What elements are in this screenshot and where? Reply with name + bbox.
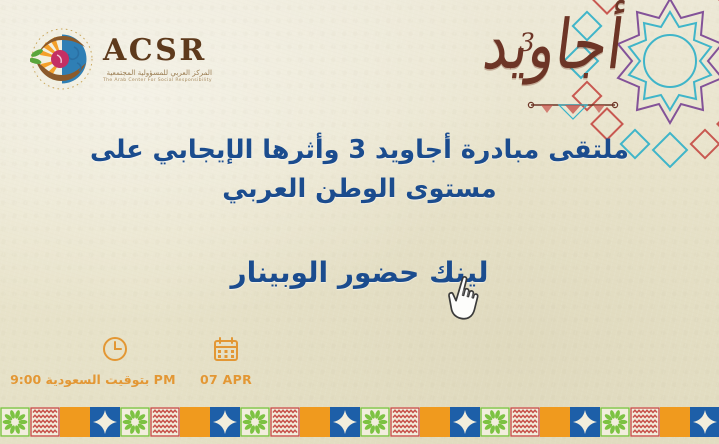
- title-line-1: ملتقى مبادرة أجاويد 3 وأثرها الإيجابي عل…: [0, 131, 719, 170]
- border-tile-blue-star: [330, 407, 360, 437]
- border-tile-orange-lens: [60, 407, 90, 437]
- event-date-label: 07 APR: [200, 372, 252, 387]
- border-tile-orange-lens: [660, 407, 690, 437]
- decorative-tile-border-icon: [0, 407, 719, 437]
- border-tile-orange-lens: [540, 407, 570, 437]
- event-meta: بتوقيت السعودية 9:00 PM 07 APR: [0, 336, 300, 388]
- webinar-announcement-poster: ACSR المركز العربي للمسؤولية المجتمعية T…: [0, 0, 719, 444]
- border-tile-blue-star: [210, 407, 240, 437]
- event-date: 07 APR: [178, 336, 274, 388]
- border-tile-red-zigzag: [30, 407, 60, 437]
- border-tile-green-floral: [600, 407, 630, 437]
- border-tile-orange-lens: [180, 407, 210, 437]
- border-tile-blue-star: [570, 407, 600, 437]
- border-tile-green-floral: [0, 407, 30, 437]
- event-time-label: بتوقيت السعودية 9:00 PM: [10, 372, 176, 387]
- border-tile-orange-lens: [420, 407, 450, 437]
- acsr-globe-emblem-icon: [30, 27, 94, 91]
- title-line-2: مستوى الوطن العربي: [0, 170, 719, 209]
- calendar-icon: [178, 336, 274, 366]
- border-tile-red-zigzag: [630, 407, 660, 437]
- border-tile-orange-lens: [300, 407, 330, 437]
- event-time: بتوقيت السعودية 9:00 PM: [0, 336, 186, 388]
- cta-container: لينك حضور الوبينار: [0, 256, 719, 289]
- calligraphy-word: أجاويد: [479, 12, 627, 80]
- border-tile-red-zigzag: [390, 407, 420, 437]
- border-tile-red-zigzag: [150, 407, 180, 437]
- ajaweed-calligraphy: 3 أجاويد: [517, 6, 627, 122]
- hand-pointer-cursor-icon: [444, 272, 488, 324]
- border-tile-blue-star: [690, 407, 719, 437]
- border-tile-green-floral: [240, 407, 270, 437]
- acsr-wordmark: ACSR: [103, 36, 212, 66]
- border-tile-blue-star: [450, 407, 480, 437]
- acsr-arabic-name: المركز العربي للمسؤولية المجتمعية: [103, 69, 212, 76]
- ornament-flourish-icon: [525, 100, 621, 122]
- border-tile-blue-star: [90, 407, 120, 437]
- page-title: ملتقى مبادرة أجاويد 3 وأثرها الإيجابي عل…: [0, 131, 719, 209]
- border-tile-green-floral: [360, 407, 390, 437]
- border-tile-green-floral: [120, 407, 150, 437]
- border-tile-red-zigzag: [510, 407, 540, 437]
- acsr-english-name: The Arab Center For Social Responsibilit…: [103, 79, 212, 84]
- border-tile-green-floral: [480, 407, 510, 437]
- border-tile-red-zigzag: [270, 407, 300, 437]
- acsr-logo: ACSR المركز العربي للمسؤولية المجتمعية T…: [30, 27, 212, 91]
